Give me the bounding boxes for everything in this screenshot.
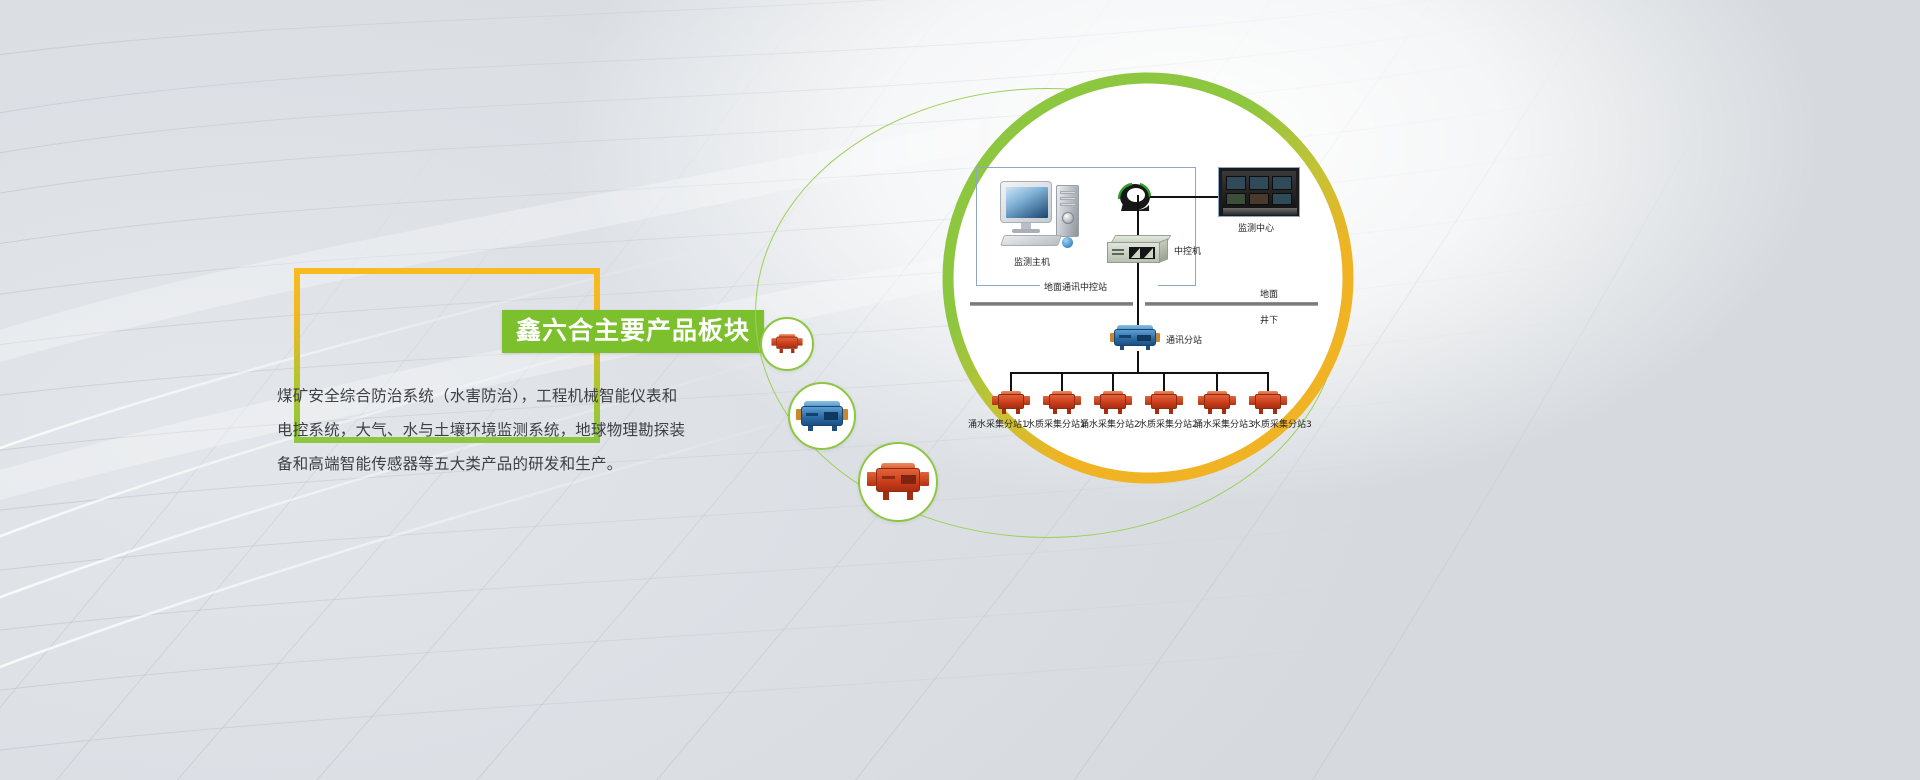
station-icon-5	[1198, 391, 1236, 415]
page-title: 鑫六合主要产品板块	[516, 319, 750, 344]
ground-station-box-bottom-right	[1158, 285, 1196, 286]
red-device-icon	[771, 334, 802, 354]
wire-drop-1	[1010, 372, 1012, 392]
product-bubble-red-large[interactable]	[858, 442, 938, 522]
product-bubble-blue[interactable]	[788, 382, 856, 450]
red-device-icon	[867, 463, 929, 501]
section-description-text: 煤矿安全综合防治系统（水害防治），工程机械智能仪表和 电控系统，大气、水与土壤环…	[277, 380, 707, 482]
station-icon-6	[1249, 391, 1287, 415]
station-icon-2	[1043, 391, 1081, 415]
central-controller-icon	[1107, 235, 1169, 265]
label-monitoring-center: 监测中心	[1238, 221, 1274, 234]
diagram-illustration-stage: 监测主机 监测中心	[740, 0, 1440, 780]
label-comm-substation: 通讯分站	[1166, 333, 1202, 346]
wire-controller-to-substation	[1137, 263, 1139, 331]
station-label-5: 涌水采集分站3	[1194, 417, 1254, 430]
ground-level-line-left	[970, 302, 1133, 306]
station-label-3: 涌水采集分站2	[1080, 417, 1140, 430]
station-label-1: 涌水采集分站1	[968, 417, 1028, 430]
station-label-4: 水质采集分站2	[1138, 417, 1198, 430]
wire-station-bus	[1010, 372, 1268, 374]
wire-drop-6	[1267, 372, 1269, 392]
blue-device-icon	[796, 401, 848, 431]
network-cloud-icon	[1116, 181, 1152, 213]
system-architecture-diagram: 监测主机 监测中心	[970, 145, 1318, 475]
wire-center-vertical	[1137, 195, 1139, 240]
section-title-banner: 鑫六合主要产品板块	[502, 310, 764, 353]
monitoring-center-icon	[1218, 167, 1300, 217]
ground-station-box-bottom-left	[976, 285, 1040, 286]
label-ground: 地面	[1260, 287, 1278, 300]
wire-drop-4	[1163, 372, 1165, 392]
station-label-2: 水质采集分站1	[1026, 417, 1086, 430]
monitor-host-icon	[1000, 179, 1084, 251]
ground-level-line-right	[1145, 302, 1318, 306]
wire-drop-3	[1112, 372, 1114, 392]
wire-host-to-center	[1150, 196, 1220, 198]
station-icon-3	[1094, 391, 1132, 415]
station-icon-4	[1145, 391, 1183, 415]
label-monitor-host: 监测主机	[1014, 255, 1050, 268]
station-icon-1	[992, 391, 1030, 415]
communication-substation-icon	[1110, 325, 1160, 351]
wire-drop-5	[1216, 372, 1218, 392]
product-bubble-red-small[interactable]	[760, 317, 814, 371]
station-label-6: 水质采集分站3	[1252, 417, 1312, 430]
label-ground-comm-station: 地面通讯中控站	[1044, 280, 1107, 293]
wire-drop-2	[1061, 372, 1063, 392]
label-underground: 井下	[1260, 313, 1278, 326]
wire-substation-down	[1137, 351, 1139, 373]
label-central-controller: 中控机	[1174, 244, 1201, 257]
